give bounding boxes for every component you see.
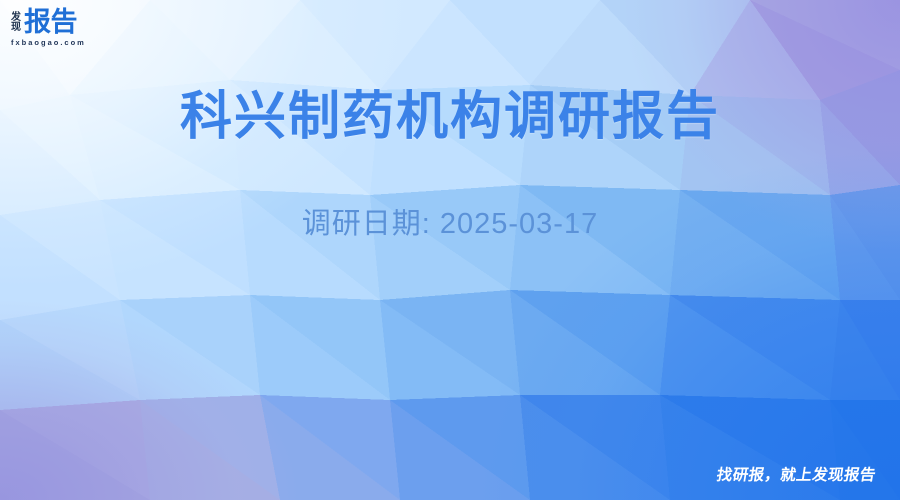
logo-stacked-characters: 发 现 xyxy=(11,12,21,33)
logo-url: fxbaogao.com xyxy=(11,38,107,47)
footer-slogan: 找研报，就上发现报告 xyxy=(715,463,878,485)
logo-wordmark: 报告 xyxy=(24,9,77,36)
low-poly-background xyxy=(0,0,900,500)
report-cover-slide: 发 现 报告 fxbaogao.com 科兴制药机构调研报告 调研日期: 202… xyxy=(0,0,900,500)
logo-wordmark-row: 发 现 报告 xyxy=(11,9,107,36)
logo-character-bottom: 现 xyxy=(11,23,21,33)
brand-logo[interactable]: 发 现 报告 fxbaogao.com xyxy=(11,9,107,47)
